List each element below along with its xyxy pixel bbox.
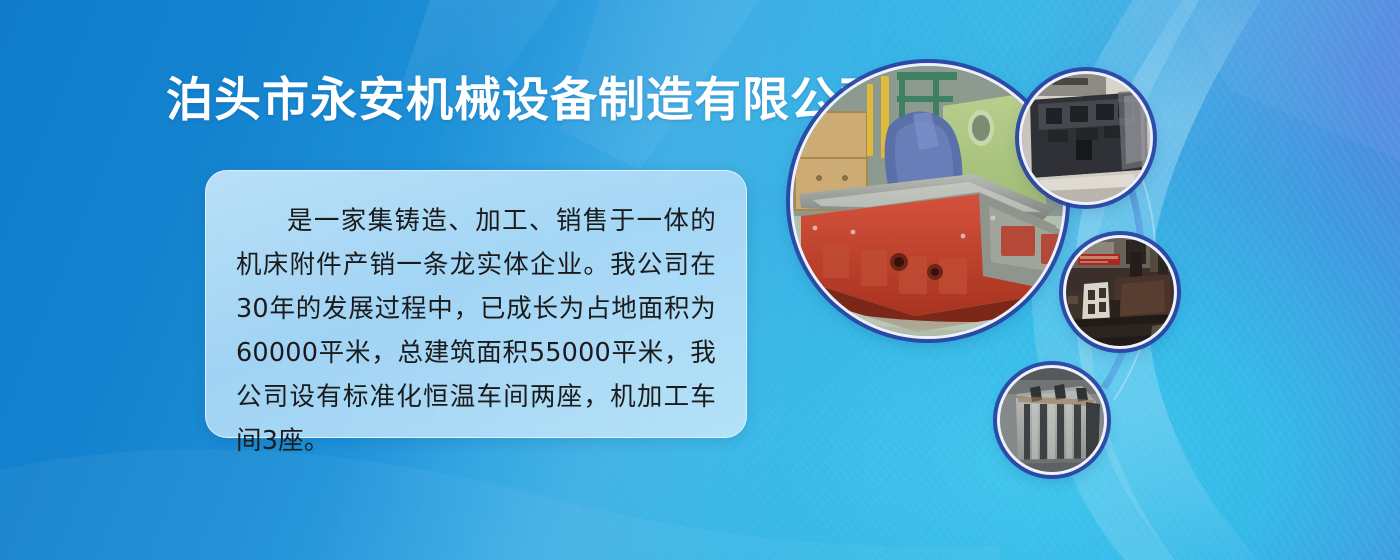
photo-foundry-workshop-interior [1066,238,1174,346]
page-title: 泊头市永安机械设备制造有限公司 [166,74,886,126]
grey-iron-block-image [1000,368,1104,472]
dark-casting-bed-image [1022,74,1150,202]
foundry-workshop-interior-image [1066,238,1174,346]
machine-bed-red-factory-image [793,66,1063,336]
photo-grey-iron-block [1000,368,1104,472]
company-hero-banner: 泊头市永安机械设备制造有限公司 是一家集铸造、加工、销售于一体的机床附件产销一条… [0,0,1400,560]
photo-dark-casting-bed [1022,74,1150,202]
company-intro-text: 是一家集铸造、加工、销售于一体的机床附件产销一条龙实体企业。我公司在30年的发展… [236,199,716,463]
banner-footer-strip [0,556,1400,560]
company-intro-card: 是一家集铸造、加工、销售于一体的机床附件产销一条龙实体企业。我公司在30年的发展… [205,170,747,438]
photo-machine-bed-red-factory [793,66,1063,336]
